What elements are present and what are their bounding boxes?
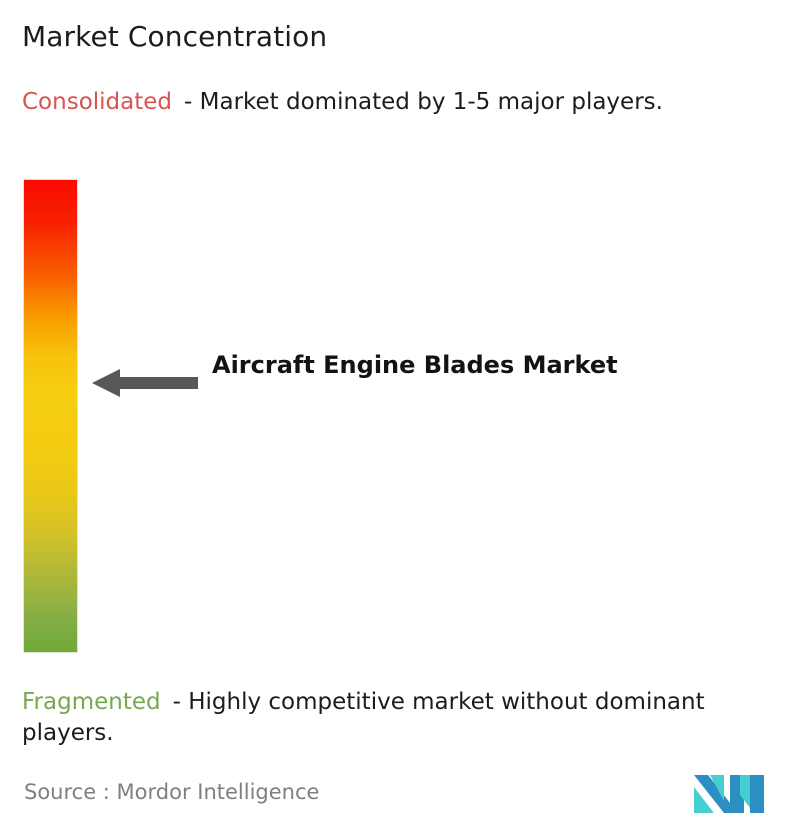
left-arrow-icon — [92, 368, 198, 398]
source-note: Source : Mordor Intelligence — [24, 780, 319, 804]
market-concentration-infographic: Market Concentration Consolidated- Marke… — [0, 0, 796, 834]
market-pointer: Aircraft Engine Blades Market — [92, 360, 692, 424]
page-title: Market Concentration — [22, 20, 327, 53]
concentration-scale-bar — [24, 180, 77, 652]
market-pointer-label: Aircraft Engine Blades Market — [212, 348, 632, 383]
legend-description-consolidated: - Market dominated by 1-5 major players. — [184, 89, 663, 115]
mordor-intelligence-logo-icon — [694, 765, 774, 813]
legend-key-consolidated: Consolidated — [22, 89, 172, 115]
legend-key-fragmented: Fragmented — [22, 689, 161, 715]
legend-consolidated: Consolidated- Market dominated by 1-5 ma… — [22, 87, 782, 118]
legend-fragmented: Fragmented- Highly competitive market wi… — [22, 687, 782, 749]
